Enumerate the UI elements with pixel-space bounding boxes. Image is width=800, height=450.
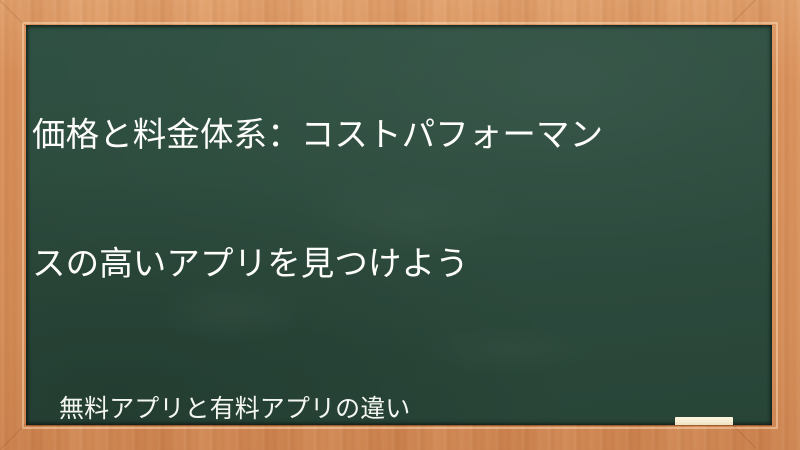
chalkboard-slide: 価格と料金体系：コストパフォーマン スの高いアプリを見つけよう 無料アプリと有料… [0, 0, 800, 450]
chalkboard-surface: 価格と料金体系：コストパフォーマン スの高いアプリを見つけよう 無料アプリと有料… [26, 25, 772, 425]
slide-title-line-2: スの高いアプリを見つけよう [32, 243, 760, 286]
slide-title-line-1: 価格と料金体系：コストパフォーマン [32, 114, 760, 157]
board-text-block: 価格と料金体系：コストパフォーマン スの高いアプリを見つけよう 無料アプリと有料… [26, 25, 772, 425]
list-item: 無料アプリと有料アプリの違い [59, 395, 760, 423]
chalk-stick-icon [675, 417, 733, 425]
slide-title: 価格と料金体系：コストパフォーマン スの高いアプリを見つけよう [32, 28, 760, 372]
slide-bullet-list: 無料アプリと有料アプリの違い 月額料金、レッスン単価の比較 無料トライアルやキャ… [32, 395, 760, 425]
